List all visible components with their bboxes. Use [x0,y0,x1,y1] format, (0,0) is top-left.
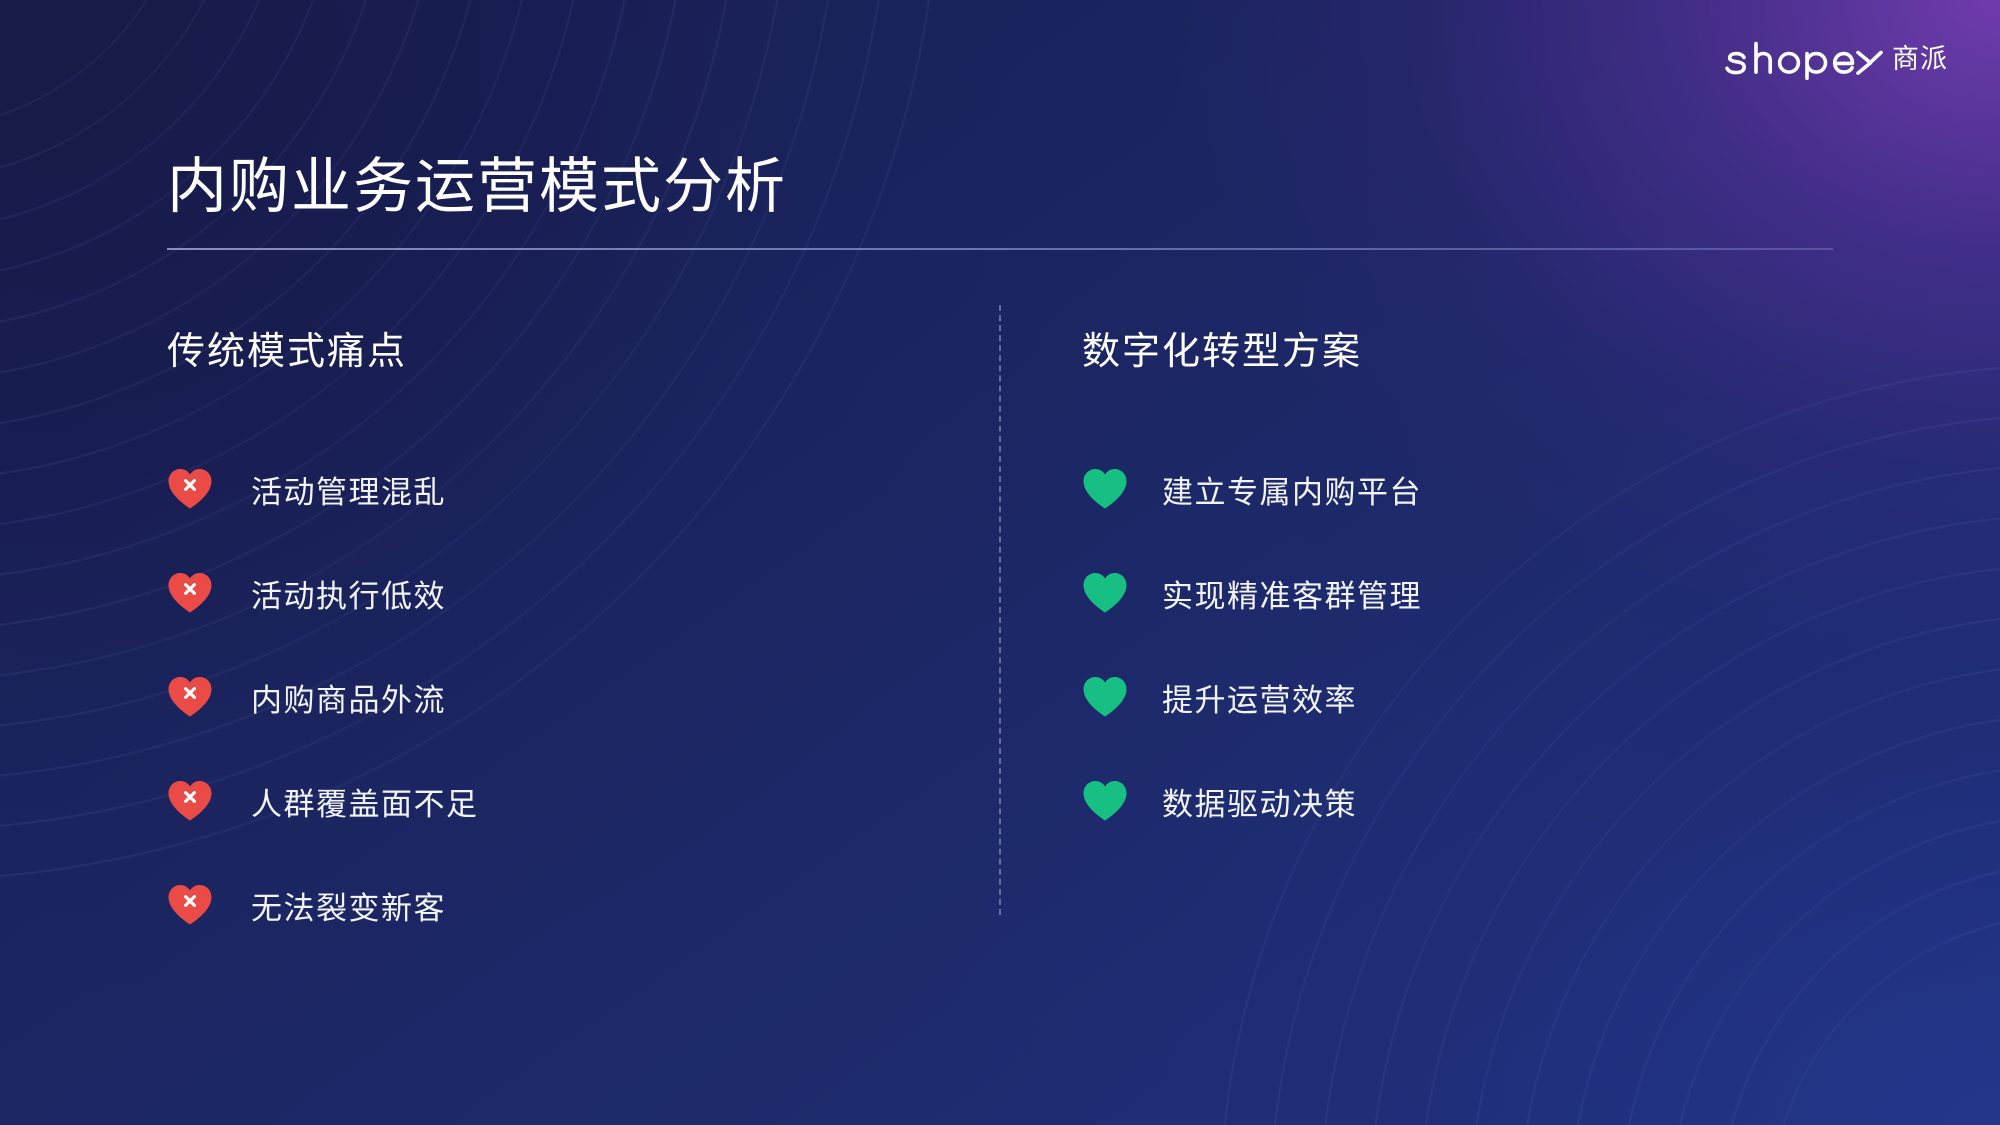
list-item-label: 活动执行低效 [251,571,446,616]
column-pain-points: 传统模式痛点 活动管理混乱 活动执行低效 [167,320,927,957]
list-item-label: 活动管理混乱 [251,467,446,512]
heart-cross-icon [167,883,213,927]
heart-icon [1082,571,1128,615]
heart-icon [1082,675,1128,719]
list-item-label: 提升运营效率 [1162,675,1357,720]
list-item: 提升运营效率 [1082,645,1842,749]
heart-cross-icon [167,467,213,511]
list-item-label: 内购商品外流 [251,675,446,720]
shopex-logo-icon [1725,40,1883,80]
list-item: 实现精准客群管理 [1082,541,1842,645]
list-item: 人群覆盖面不足 [167,749,927,853]
heart-icon [1082,779,1128,823]
brand-logo: 商派 [1725,40,1948,80]
list-item-label: 人群覆盖面不足 [251,779,479,824]
heart-cross-icon [167,675,213,719]
column-heading-pain-points: 传统模式痛点 [167,320,927,375]
heart-icon [1082,467,1128,511]
list-item: 建立专属内购平台 [1082,437,1842,541]
list-item-label: 建立专属内购平台 [1162,467,1422,512]
list-item: 活动执行低效 [167,541,927,645]
column-divider [999,305,1001,915]
list-item-label: 无法裂变新客 [251,883,446,928]
column-solutions: 数字化转型方案 建立专属内购平台 实现精准客群管理 [1082,320,1842,853]
list-item: 数据驱动决策 [1082,749,1842,853]
heart-cross-icon [167,779,213,823]
list-item: 活动管理混乱 [167,437,927,541]
list-item: 内购商品外流 [167,645,927,749]
brand-logo-cn: 商派 [1892,46,1948,75]
title-divider-rule [167,248,1833,250]
list-item-label: 实现精准客群管理 [1162,571,1422,616]
slide-canvas: 商派 内购业务运营模式分析 传统模式痛点 活动管理混乱 活动执行低 [0,0,2000,1125]
column-heading-solutions: 数字化转型方案 [1082,320,1842,375]
heart-cross-icon [167,571,213,615]
list-item-label: 数据驱动决策 [1162,779,1357,824]
list-item: 无法裂变新客 [167,853,927,957]
page-title: 内购业务运营模式分析 [167,152,787,223]
